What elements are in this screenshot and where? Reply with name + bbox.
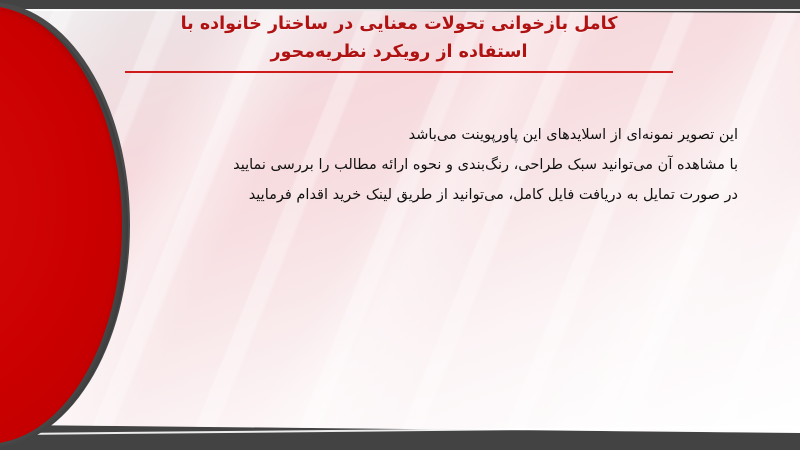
body-line-2: با مشاهده آن می‌توانید سبک طراحی، رنگ‌بن… [98, 150, 738, 180]
slide-title: کامل بازخوانی تحولات معنایی در ساختار خا… [116, 10, 682, 73]
red-corner-bottom [0, 407, 12, 433]
title-underline [125, 71, 673, 73]
red-corner-top [0, 9, 10, 35]
slide-title-line-1: کامل بازخوانی تحولات معنایی در ساختار خا… [116, 10, 682, 38]
presentation-slide: کامل بازخوانی تحولات معنایی در ساختار خا… [0, 0, 800, 450]
slide-title-line-2: استفاده از رویکرد نظریه‌محور [116, 38, 682, 66]
slide-body: این تصویر نمونه‌ای از اسلایدهای این پاور… [98, 120, 738, 210]
body-line-1: این تصویر نمونه‌ای از اسلایدهای این پاور… [98, 120, 738, 150]
body-line-3: در صورت تمایل به دریافت فایل کامل، می‌تو… [98, 180, 738, 210]
